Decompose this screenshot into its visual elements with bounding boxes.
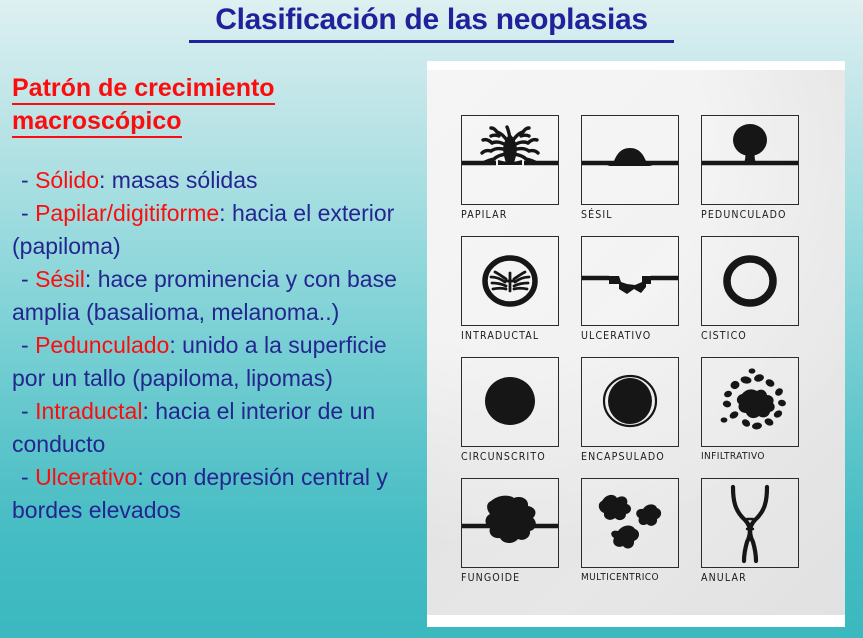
bullet-dash: - bbox=[21, 464, 35, 490]
ulcerativo-icon bbox=[582, 237, 678, 325]
figure-paper-background: PAPILAR SÉSIL bbox=[427, 70, 845, 615]
section-heading-line-1: Patrón de crecimiento bbox=[12, 74, 275, 105]
growth-pattern-list: - Sólido: masas sólidas - Papilar/digiti… bbox=[12, 164, 412, 527]
diagram-cell-encapsulado: ENCAPSULADO bbox=[581, 357, 681, 477]
pedunculado-icon bbox=[702, 116, 798, 204]
diagram-cell-infiltrativo: INFILTRATIVO bbox=[701, 357, 801, 477]
diagram-cell-fungoide: FUNGOIDE bbox=[461, 478, 561, 598]
bullet-separator: : bbox=[219, 200, 232, 226]
bullet-term: Sólido bbox=[35, 167, 99, 193]
list-item: - Sólido: masas sólidas bbox=[12, 164, 412, 197]
list-item: - Papilar/digitiforme: hacia el exterior… bbox=[12, 197, 412, 263]
sesil-icon bbox=[582, 116, 678, 204]
diagram-label: ENCAPSULADO bbox=[581, 451, 681, 463]
bullet-separator: : bbox=[85, 266, 98, 292]
diagram-cell-ulcerativo: ULCERATIVO bbox=[581, 236, 681, 356]
diagram-frame bbox=[701, 357, 799, 447]
diagram-label: PEDUNCULADO bbox=[701, 209, 801, 221]
diagram-label: ANULAR bbox=[701, 572, 801, 584]
bullet-dash: - bbox=[21, 266, 35, 292]
cistico-icon bbox=[702, 237, 798, 325]
bullet-term: Ulcerativo bbox=[35, 464, 137, 490]
circunscrito-icon bbox=[462, 358, 558, 446]
diagram-frame bbox=[581, 357, 679, 447]
bullet-dash: - bbox=[21, 398, 35, 424]
diagram-frame bbox=[461, 236, 559, 326]
bullet-dash: - bbox=[21, 332, 35, 358]
bullet-separator: : bbox=[169, 332, 182, 358]
diagram-cell-circunscrito: CIRCUNSCRITO bbox=[461, 357, 561, 477]
section-heading: Patrón de crecimiento macroscópico bbox=[12, 72, 412, 138]
bullet-dash: - bbox=[21, 200, 35, 226]
diagram-cell-cistico: CISTICO bbox=[701, 236, 801, 356]
diagram-label: CISTICO bbox=[701, 330, 801, 342]
diagram-label: FUNGOIDE bbox=[461, 572, 561, 584]
bullet-term: Intraductal bbox=[35, 398, 142, 424]
diagram-frame bbox=[461, 478, 559, 568]
growth-pattern-diagram-grid: PAPILAR SÉSIL bbox=[461, 115, 821, 598]
diagram-label: SÉSIL bbox=[581, 209, 681, 221]
diagram-label: PAPILAR bbox=[461, 209, 561, 221]
diagram-cell-anular: ANULAR bbox=[701, 478, 801, 598]
diagram-cell-intraductal: INTRADUCTAL bbox=[461, 236, 561, 356]
diagram-label: INTRADUCTAL bbox=[461, 330, 561, 342]
list-item: - Intraductal: hacia el interior de un c… bbox=[12, 395, 412, 461]
diagram-frame bbox=[701, 236, 799, 326]
bullet-term: Sésil bbox=[35, 266, 85, 292]
diagram-frame bbox=[461, 357, 559, 447]
infiltrativo-icon bbox=[702, 358, 798, 446]
diagram-frame bbox=[701, 478, 799, 568]
diagram-label: INFILTRATIVO bbox=[701, 451, 801, 462]
diagram-frame bbox=[581, 478, 679, 568]
content-column: Patrón de crecimiento macroscópico - Sól… bbox=[12, 72, 412, 527]
diagram-cell-pedunculado: PEDUNCULADO bbox=[701, 115, 801, 235]
bullet-term: Pedunculado bbox=[35, 332, 169, 358]
papilar-icon bbox=[462, 116, 558, 204]
list-item: - Ulcerativo: con depresión central y bo… bbox=[12, 461, 412, 527]
section-heading-line-2: macroscópico bbox=[12, 107, 182, 138]
bullet-separator: : bbox=[137, 464, 150, 490]
figure-photo: PAPILAR SÉSIL bbox=[427, 61, 845, 627]
fungoide-icon bbox=[462, 479, 558, 567]
diagram-cell-sesil: SÉSIL bbox=[581, 115, 681, 235]
diagram-cell-multicentrico: MULTICENTRICO bbox=[581, 478, 681, 598]
bullet-separator: : bbox=[99, 167, 112, 193]
multicentrico-icon bbox=[582, 479, 678, 567]
diagram-frame bbox=[581, 236, 679, 326]
slide-title-container: Clasificación de las neoplasias bbox=[0, 0, 863, 43]
list-item: - Sésil: hace prominencia y con base amp… bbox=[12, 263, 412, 329]
diagram-label: CIRCUNSCRITO bbox=[461, 451, 561, 463]
bullet-text: masas sólidas bbox=[112, 167, 258, 193]
slide-canvas: Clasificación de las neoplasias Patrón d… bbox=[0, 0, 863, 638]
anular-icon bbox=[702, 479, 798, 567]
bullet-dash: - bbox=[21, 167, 35, 193]
diagram-cell-papilar: PAPILAR bbox=[461, 115, 561, 235]
diagram-label: ULCERATIVO bbox=[581, 330, 681, 342]
diagram-label: MULTICENTRICO bbox=[581, 572, 681, 583]
bullet-separator: : bbox=[142, 398, 155, 424]
diagram-frame bbox=[461, 115, 559, 205]
intraductal-icon bbox=[462, 237, 558, 325]
encapsulado-icon bbox=[582, 358, 678, 446]
diagram-frame bbox=[701, 115, 799, 205]
page-title: Clasificación de las neoplasias bbox=[189, 0, 674, 43]
bullet-term: Papilar/digitiforme bbox=[35, 200, 219, 226]
list-item: - Pedunculado: unido a la superficie por… bbox=[12, 329, 412, 395]
diagram-frame bbox=[581, 115, 679, 205]
